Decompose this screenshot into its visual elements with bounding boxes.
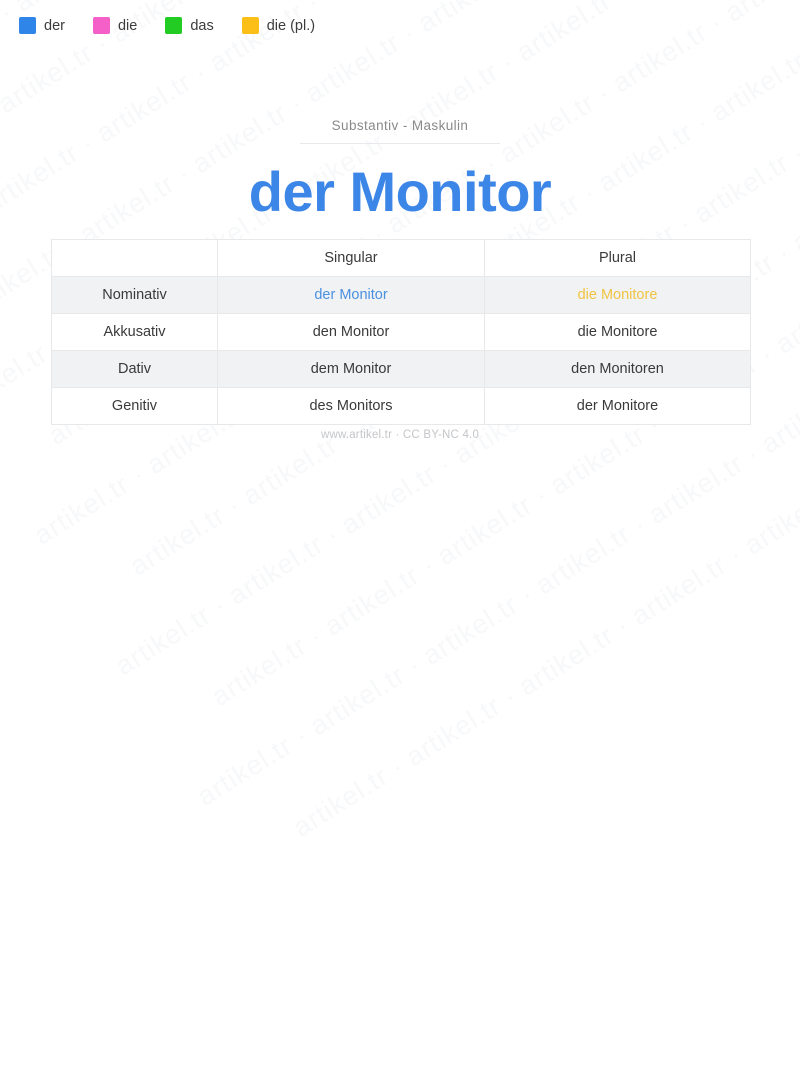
table-row: Akkusativ den Monitor die Monitore (52, 314, 751, 351)
legend-label: die (pl.) (267, 18, 315, 34)
color-swatch-icon (93, 17, 110, 34)
case-label: Akkusativ (52, 314, 218, 351)
color-swatch-icon (165, 17, 182, 34)
table-header-case (52, 240, 218, 277)
legend-label: die (118, 18, 137, 34)
singular-form: den Monitor (218, 314, 485, 351)
article-color-legend: der die das die (pl.) (19, 17, 343, 34)
legend-item-der: der (19, 17, 65, 34)
table-row: Dativ dem Monitor den Monitoren (52, 351, 751, 388)
table-header-plural: Plural (485, 240, 751, 277)
plural-form: die Monitore (485, 314, 751, 351)
color-swatch-icon (242, 17, 259, 34)
legend-label: das (190, 18, 213, 34)
table-row: Genitiv des Monitors der Monitore (52, 388, 751, 425)
singular-form: dem Monitor (218, 351, 485, 388)
header-divider (300, 143, 500, 144)
singular-form: der Monitor (218, 277, 485, 314)
declension-table: Singular Plural Nominativ der Monitor di… (51, 239, 751, 425)
table-header-singular: Singular (218, 240, 485, 277)
case-label: Dativ (52, 351, 218, 388)
legend-item-die: die (93, 17, 137, 34)
case-label: Nominativ (52, 277, 218, 314)
plural-form: der Monitore (485, 388, 751, 425)
page-title: der Monitor (0, 160, 800, 224)
singular-form: des Monitors (218, 388, 485, 425)
table-row: Nominativ der Monitor die Monitore (52, 277, 751, 314)
plural-form: die Monitore (485, 277, 751, 314)
legend-label: der (44, 18, 65, 34)
legend-item-das: das (165, 17, 213, 34)
color-swatch-icon (19, 17, 36, 34)
plural-form: den Monitoren (485, 351, 751, 388)
legend-item-die-plural: die (pl.) (242, 17, 315, 34)
footer-credit: www.artikel.tr · CC BY-NC 4.0 (0, 429, 800, 441)
table-header-row: Singular Plural (52, 240, 751, 277)
page-root: der die das die (pl.) Substantiv - Masku… (0, 0, 800, 533)
case-label: Genitiv (52, 388, 218, 425)
word-type-label: Substantiv - Maskulin (0, 118, 800, 133)
